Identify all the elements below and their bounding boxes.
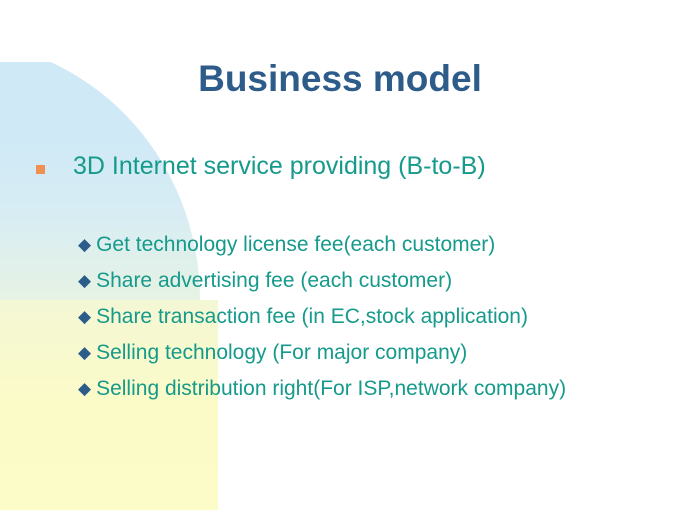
diamond-bullet-icon: ◆ xyxy=(78,272,91,289)
square-bullet-icon xyxy=(36,165,45,174)
diamond-bullet-icon: ◆ xyxy=(78,344,91,361)
list-item: ◆ Get technology license fee(each custom… xyxy=(78,233,566,269)
list-item: ◆ Selling technology (For major company) xyxy=(78,341,566,377)
list-item: ◆ Share advertising fee (each customer) xyxy=(78,269,566,305)
list-item: ◆ Share transaction fee (in EC,stock app… xyxy=(78,305,566,341)
bullet-level1-label: 3D Internet service providing (B-to-B) xyxy=(73,152,486,181)
list-item-label: Share advertising fee (each customer) xyxy=(96,269,452,293)
page-title: Business model xyxy=(0,58,680,100)
list-item-label: Get technology license fee(each customer… xyxy=(96,233,495,257)
diamond-bullet-icon: ◆ xyxy=(78,380,91,397)
slide-content: Business model 3D Internet service provi… xyxy=(0,0,680,510)
list-item-label: Share transaction fee (in EC,stock appli… xyxy=(96,305,528,329)
list-item-label: Selling technology (For major company) xyxy=(96,341,467,365)
list-item: ◆ Selling distribution right(For ISP,net… xyxy=(78,377,566,413)
diamond-bullet-icon: ◆ xyxy=(78,236,91,253)
bullet-level2-list: ◆ Get technology license fee(each custom… xyxy=(78,233,566,413)
diamond-bullet-icon: ◆ xyxy=(78,308,91,325)
bullet-level1: 3D Internet service providing (B-to-B) xyxy=(36,152,486,181)
presentation-slide: Business model 3D Internet service provi… xyxy=(0,0,680,510)
list-item-label: Selling distribution right(For ISP,netwo… xyxy=(96,377,566,401)
